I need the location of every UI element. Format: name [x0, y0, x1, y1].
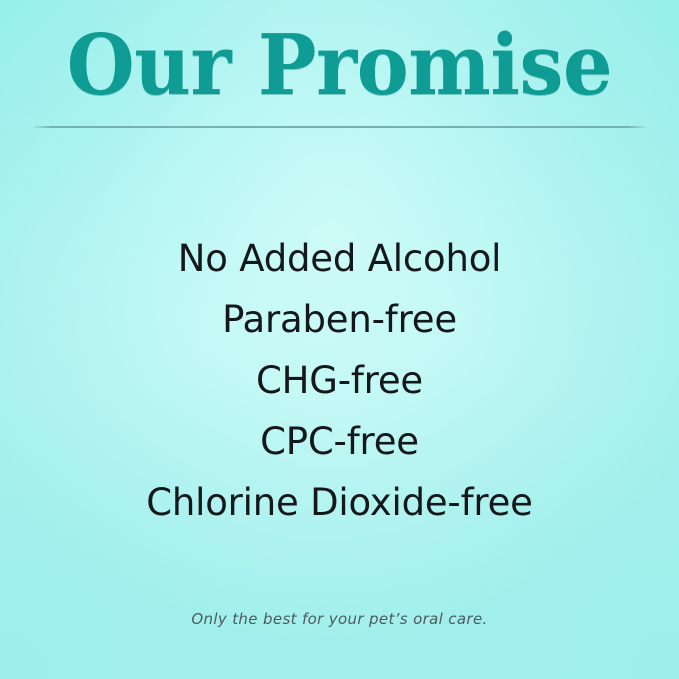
title-block: Our Promise	[0, 24, 679, 107]
footer-tagline: Only the best for your pet’s oral care.	[0, 609, 679, 629]
list-item: No Added Alcohol	[0, 228, 679, 289]
our-promise-card: Our Promise No Added Alcohol Paraben-fre…	[0, 0, 679, 679]
claims-list: No Added Alcohol Paraben-free CHG-free C…	[0, 228, 679, 533]
list-item: CPC-free	[0, 411, 679, 472]
list-item: Chlorine Dioxide-free	[0, 472, 679, 533]
page-title: Our Promise	[20, 24, 658, 107]
header-divider	[33, 126, 646, 128]
list-item: CHG-free	[0, 350, 679, 411]
list-item: Paraben-free	[0, 289, 679, 350]
